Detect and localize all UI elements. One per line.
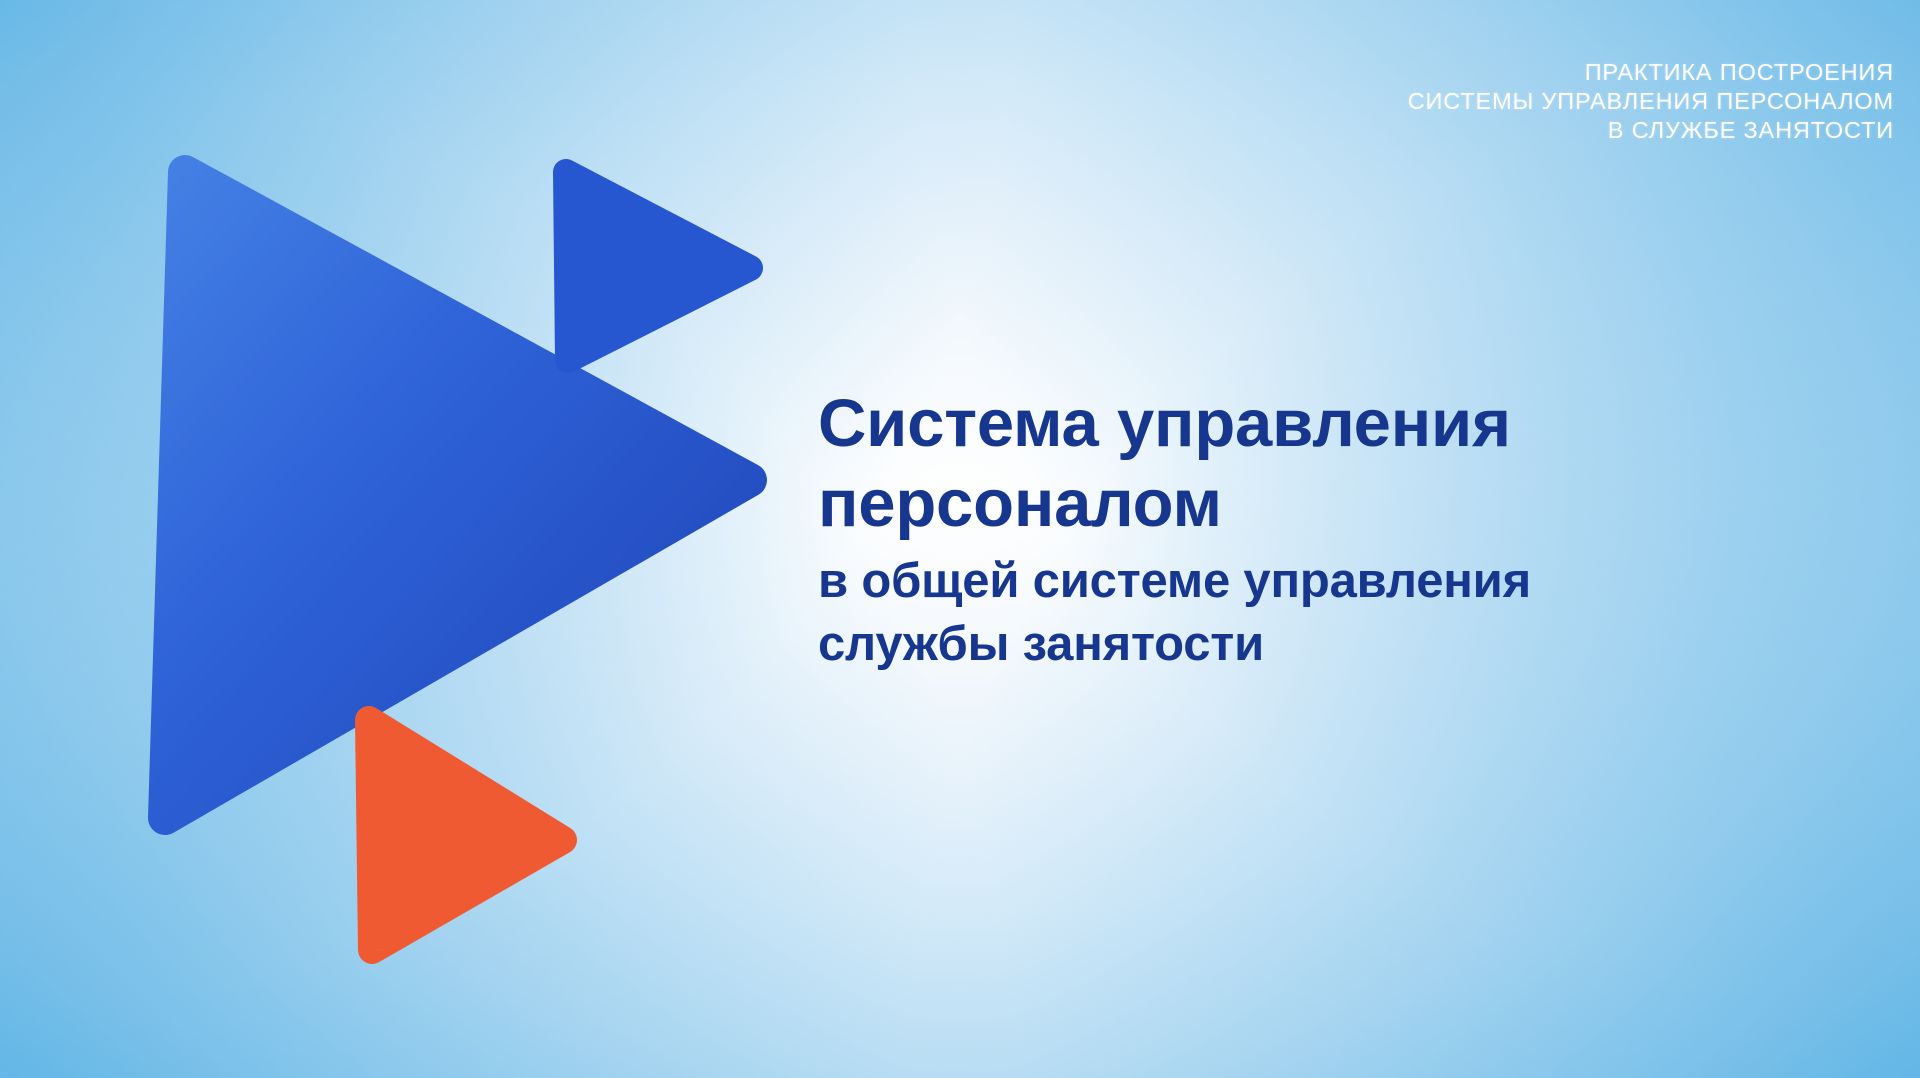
play-triangle-orange-icon: [369, 720, 563, 950]
eyebrow-line-2: СИСТЕМЫ УПРАВЛЕНИЯ ПЕРСОНАЛОМ: [1134, 87, 1894, 116]
eyebrow-heading: ПРАКТИКА ПОСТРОЕНИЯ СИСТЕМЫ УПРАВЛЕНИЯ П…: [1134, 58, 1894, 145]
page-title-line-1: Система управления: [818, 386, 1511, 461]
page-title-line-2: персоналом: [818, 466, 1222, 541]
page-subtitle-line-1: в общей системе управления: [818, 554, 1531, 608]
page-subtitle: в общей системе управления службы занято…: [818, 550, 1878, 676]
page-subtitle-line-2: службы занятости: [818, 617, 1264, 671]
title-slide: ПРАКТИКА ПОСТРОЕНИЯ СИСТЕМЫ УПРАВЛЕНИЯ П…: [0, 0, 1920, 1078]
play-triangle-small-blue-icon: [566, 172, 750, 360]
eyebrow-line-1: ПРАКТИКА ПОСТРОЕНИЯ: [1134, 58, 1894, 87]
page-title: Система управления персоналом: [818, 384, 1878, 544]
headline-block: Система управления персоналом в общей си…: [818, 384, 1878, 676]
eyebrow-line-3: В СЛУЖБЕ ЗАНЯТОСТИ: [1134, 116, 1894, 145]
